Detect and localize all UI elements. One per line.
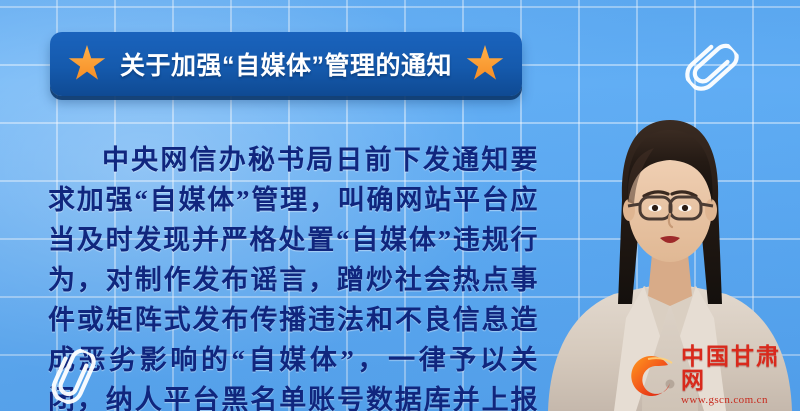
presenter-pupil-right [682,205,688,211]
watermark-url: www.gscn.com.cn [681,394,796,407]
broadcast-news-slide: 关于加强“自媒体”管理的通知 中央网信办秘书局日前下发通知要求加强“自媒体”管理… [0,0,800,411]
watermark: 中国甘肃网 www.gscn.com.cn [628,348,796,404]
article-body: 中央网信办秘书局日前下发通知要求加强“自媒体”管理，叫确网站平台应当及时发现并严… [48,140,538,411]
presenter-ear-right [705,199,717,221]
title-banner: 关于加强“自媒体”管理的通知 [50,32,522,96]
presenter-pupil-left [652,205,658,211]
star-icon [68,45,106,83]
watermark-text: 中国甘肃网 www.gscn.com.cn [681,345,796,407]
banner-title: 关于加强“自媒体”管理的通知 [120,46,452,82]
star-icon [466,45,504,83]
swirl-logo-icon [628,353,678,399]
watermark-name: 中国甘肃网 [681,345,796,393]
article-paragraph: 中央网信办秘书局日前下发通知要求加强“自媒体”管理，叫确网站平台应当及时发现并严… [48,140,538,411]
